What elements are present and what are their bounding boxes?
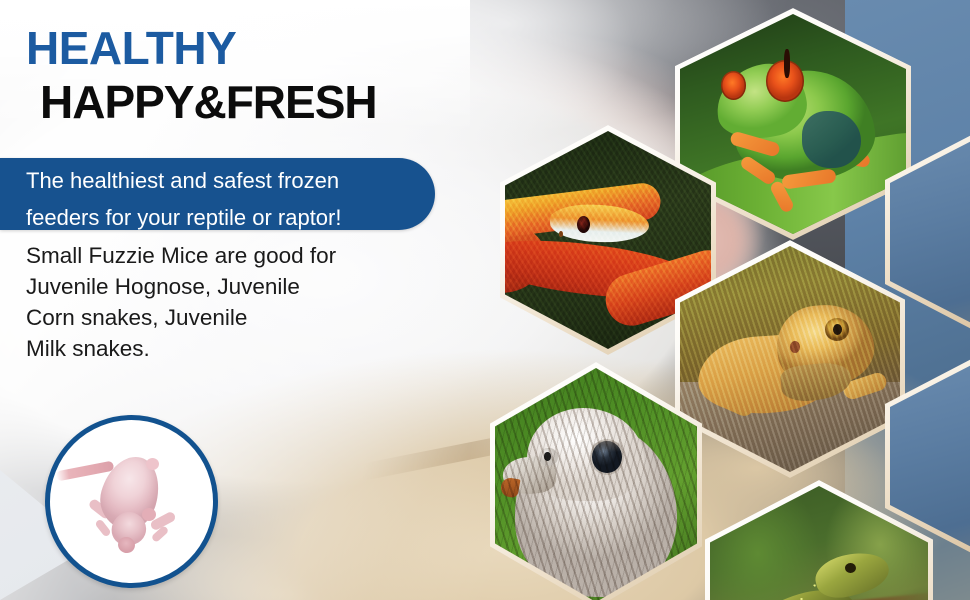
frog-pupil <box>784 49 790 78</box>
description-line-3: Corn snakes, Juvenile <box>26 302 426 333</box>
fuzzie-mouse-illustration <box>50 420 213 583</box>
description-line-2: Juvenile Hognose, Juvenile <box>26 271 426 302</box>
headline-line-2: HAPPY&FRESH <box>40 76 456 128</box>
description-block: Small Fuzzie Mice are good for Juvenile … <box>26 240 426 364</box>
tagline-line-1: The healthiest and safest frozen <box>0 158 435 195</box>
frog-eye-far <box>721 71 746 100</box>
headline-line-1: HEALTHY <box>26 22 456 74</box>
description-line-1: Small Fuzzie Mice are good for <box>26 240 426 271</box>
tagline-banner: The healthiest and safest frozen feeders… <box>0 158 435 230</box>
product-banner: HEALTHY HAPPY&FRESH The healthiest and s… <box>0 0 970 600</box>
mouse-ear-far <box>146 458 159 470</box>
frog-flank <box>802 111 861 168</box>
product-photo-circle <box>45 415 218 588</box>
description-line-4: Milk snakes. <box>26 333 426 364</box>
mouse-ear-near <box>142 508 156 521</box>
headline-block: HEALTHY HAPPY&FRESH <box>26 22 456 128</box>
tagline-line-2: feeders for your reptile or raptor! <box>0 195 435 232</box>
